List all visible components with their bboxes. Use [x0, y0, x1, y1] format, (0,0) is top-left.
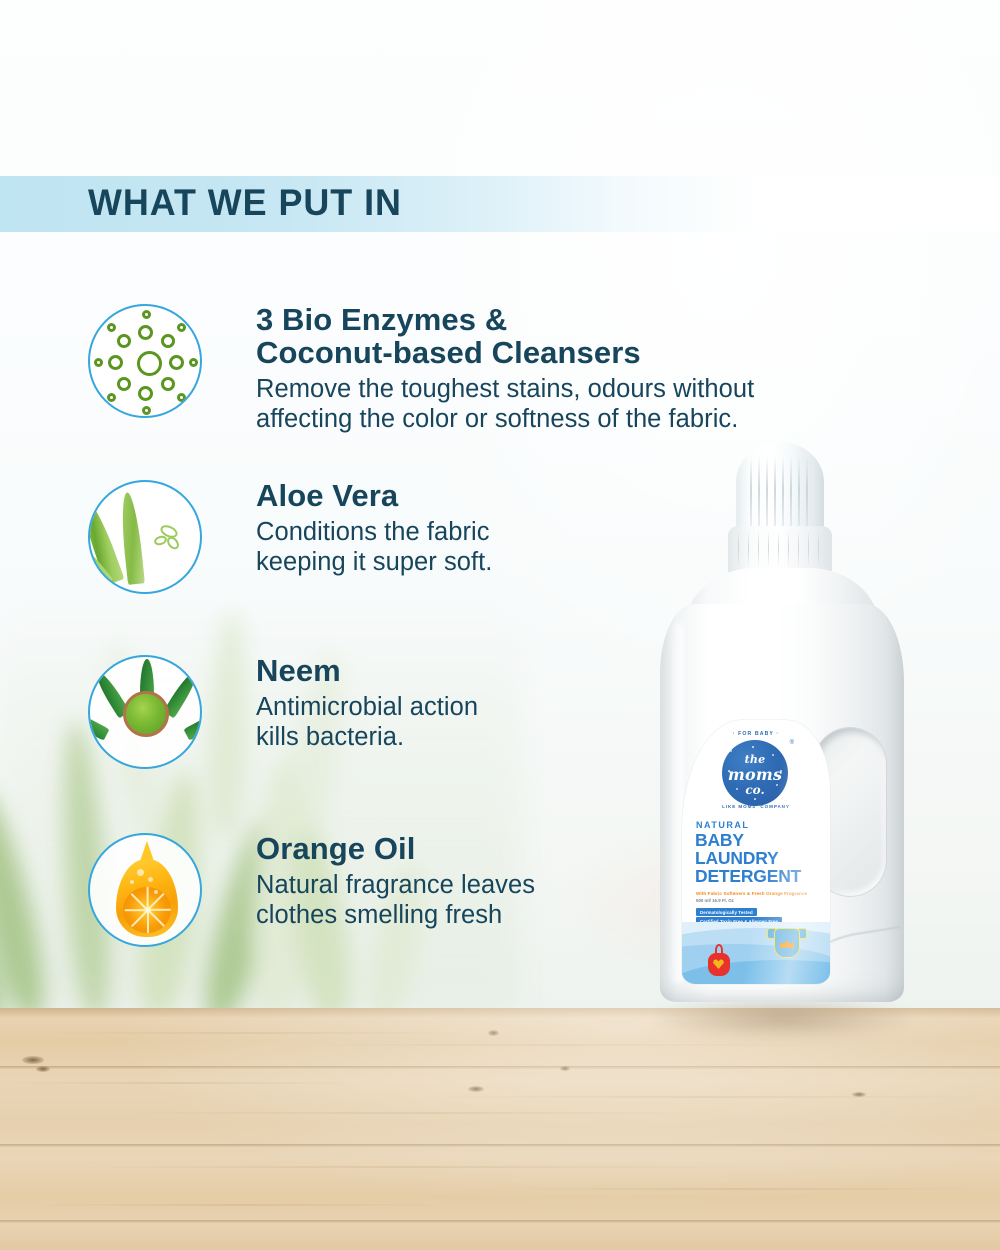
droplet-bubble: [148, 877, 153, 882]
aloe-curl-shaving: [165, 534, 182, 551]
logo-arc-top: · FOR BABY ·: [708, 731, 804, 737]
label-subtitle: With Fabric Softeners & Fresh Orange Fra…: [696, 891, 807, 896]
neem-leaf-icon: [88, 655, 202, 769]
droplet-bubble: [154, 890, 158, 894]
label-volume: 500 ml/ 16.9 Fl. Oz: [696, 898, 734, 903]
feature-title: Orange Oil: [256, 833, 535, 866]
droplet-bubble: [137, 869, 144, 876]
label-wave-artwork: [682, 922, 830, 984]
registered-trademark-mark: ®: [790, 740, 794, 746]
feature-title: Aloe Vera: [256, 480, 492, 513]
feature-description: Conditions the fabric keeping it super s…: [256, 518, 492, 578]
feature-text-neem: Neem Antimicrobial action kills bacteria…: [256, 655, 478, 753]
aloe-vera-leaf-icon: [88, 480, 202, 594]
logo-line-moms: moms: [722, 765, 788, 784]
bottle-dosing-cap: [736, 442, 824, 538]
product-bottle[interactable]: · FOR BABY · the moms co. ® LIKE MOMS' C…: [648, 436, 920, 1040]
orange-oil-droplet-icon: [88, 833, 202, 947]
feature-description: Remove the toughest stains, odours witho…: [256, 375, 754, 435]
feature-text-orange-oil: Orange Oil Natural fragrance leaves clot…: [256, 833, 535, 931]
bottle-shadow: [658, 998, 908, 1038]
brand-logo: · FOR BABY · the moms co. ® LIKE MOMS' C…: [708, 728, 804, 812]
droplet-bubble: [130, 880, 134, 884]
orange-slice: [123, 887, 171, 933]
label-eyebrow: NATURAL: [696, 820, 749, 830]
feature-title: Neem: [256, 655, 478, 688]
feature-text-bio-enzymes: 3 Bio Enzymes & Coconut-based Cleansers …: [256, 304, 754, 434]
laundry-bag-graphic: [706, 944, 732, 976]
logo-line-co: co.: [722, 783, 788, 797]
baby-onesie-graphic: [768, 924, 806, 960]
enzyme-molecule-icon: [88, 304, 202, 418]
feature-description: Antimicrobial action kills bacteria.: [256, 693, 478, 753]
neem-powder-bowl: [123, 691, 169, 737]
product-label: · FOR BABY · the moms co. ® LIKE MOMS' C…: [682, 720, 830, 984]
feature-description: Natural fragrance leaves clothes smellin…: [256, 871, 535, 931]
label-badge-dermatologically-tested: Dermatologically Tested: [696, 908, 757, 916]
feature-title: 3 Bio Enzymes & Coconut-based Cleansers: [256, 304, 754, 370]
logo-arc-bottom: LIKE MOMS' COMPANY: [708, 804, 804, 809]
label-product-name: BABY LAUNDRY DETERGENT: [695, 832, 801, 886]
feature-text-aloe-vera: Aloe Vera Conditions the fabric keeping …: [256, 480, 492, 578]
logo-disc: the moms co.: [722, 740, 788, 806]
